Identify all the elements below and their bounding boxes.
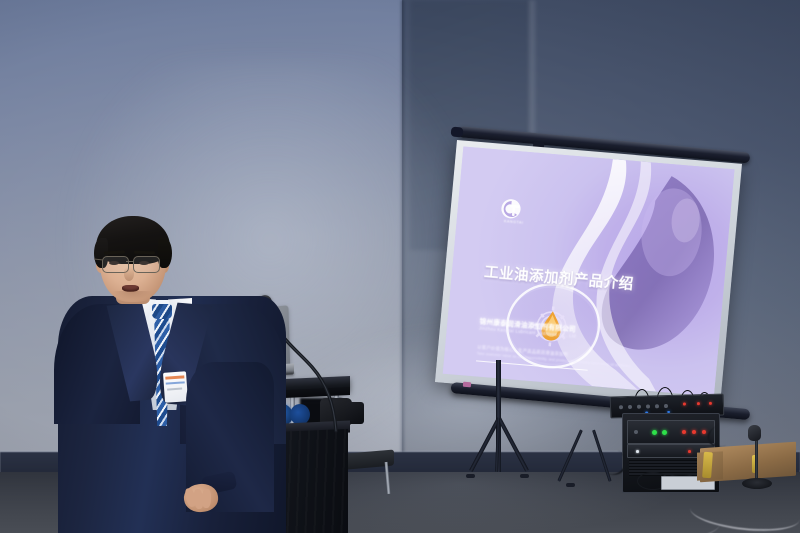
mixer-knob[interactable] <box>619 405 623 409</box>
rack-led-red <box>692 430 696 434</box>
rack-led-indicator <box>636 450 639 453</box>
company-logo: KANGTAI <box>496 197 533 230</box>
rack-led-green <box>652 430 657 435</box>
screen-pull-tab <box>463 382 471 388</box>
screen-tripod-foot <box>520 474 529 478</box>
badge-stripe <box>165 375 184 379</box>
finger <box>202 489 212 508</box>
floor-mic-head <box>748 425 761 441</box>
screen-tripod-foot <box>466 474 475 478</box>
floor-mic-base <box>742 478 772 489</box>
eyeglasses-lens-right <box>133 256 160 273</box>
mixer-knob[interactable] <box>664 404 668 408</box>
necktie-knot <box>152 304 172 319</box>
nose <box>124 267 134 281</box>
screen-frame: KANGTAI 工业油添加剂产品介绍 锦州康泰润滑油添加剂有限公司 Jinzho… <box>435 140 742 406</box>
presentation-photo-scene: KANGTAI 工业油添加剂产品介绍 锦州康泰润滑油添加剂有限公司 Jinzho… <box>0 0 800 533</box>
mixer-knob[interactable] <box>655 404 659 408</box>
mixer-led-red <box>709 402 712 405</box>
mixer-knob[interactable] <box>646 404 650 408</box>
slide-title: 工业油添加剂产品介绍 <box>483 261 634 294</box>
badge-stripe <box>166 381 185 384</box>
mixer-knob[interactable] <box>637 405 641 409</box>
chin-shadow <box>112 291 152 300</box>
rack-led-red <box>682 430 686 434</box>
presenter <box>60 212 290 533</box>
yellow-object <box>702 452 713 479</box>
rack-amplifier-unit <box>627 420 715 444</box>
name-badge <box>163 371 188 403</box>
projection-screen: KANGTAI 工业油添加剂产品介绍 锦州康泰润滑油添加剂有限公司 Jinzho… <box>449 130 749 400</box>
rack-led-green <box>662 430 667 435</box>
mic-stand-foot <box>566 483 575 487</box>
mixer-led-red <box>683 403 686 406</box>
floor-mic-pole <box>755 436 758 480</box>
eyeglasses-bridge <box>126 261 134 262</box>
badge-stripe <box>167 388 182 391</box>
mixer-knob[interactable] <box>628 405 632 409</box>
mixer-led-red <box>697 402 700 405</box>
rack-led-red <box>702 430 706 434</box>
rack-knob[interactable] <box>634 430 638 434</box>
rack-led-red <box>688 450 691 453</box>
slide-surface: KANGTAI 工业油添加剂产品介绍 锦州康泰润滑油添加剂有限公司 Jinzho… <box>443 147 735 397</box>
hair-side-right <box>158 238 172 268</box>
screen-roller-cap <box>451 126 464 137</box>
